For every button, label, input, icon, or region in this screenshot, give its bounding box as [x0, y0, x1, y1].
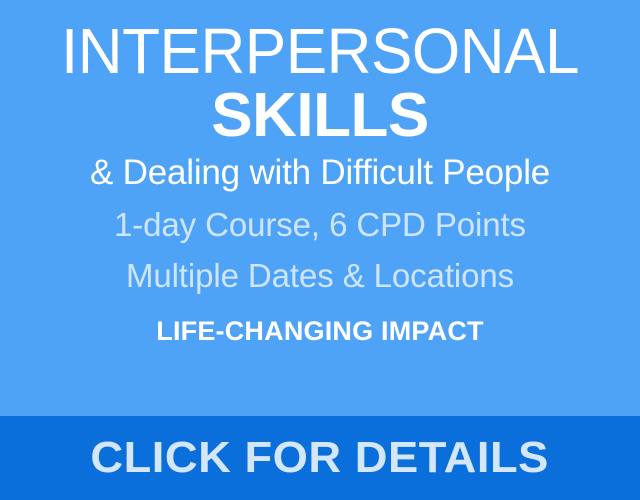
cta-label: CLICK FOR DETAILS — [91, 436, 550, 480]
headline-primary-line-2: SKILLS — [0, 83, 640, 148]
promo-banner[interactable]: INTERPERSONAL SKILLS & Dealing with Diff… — [0, 0, 640, 500]
banner-content: INTERPERSONAL SKILLS & Dealing with Diff… — [0, 0, 640, 416]
course-detail-dates-locations: Multiple Dates & Locations — [0, 258, 640, 294]
headline-primary-line-1: INTERPERSONAL — [10, 18, 631, 85]
headline-subtitle: & Dealing with Difficult People — [0, 154, 640, 193]
banner-tagline: LIFE-CHANGING IMPACT — [0, 317, 640, 347]
cta-bar[interactable]: CLICK FOR DETAILS — [0, 416, 640, 500]
course-detail-duration-cpd: 1-day Course, 6 CPD Points — [0, 207, 640, 243]
